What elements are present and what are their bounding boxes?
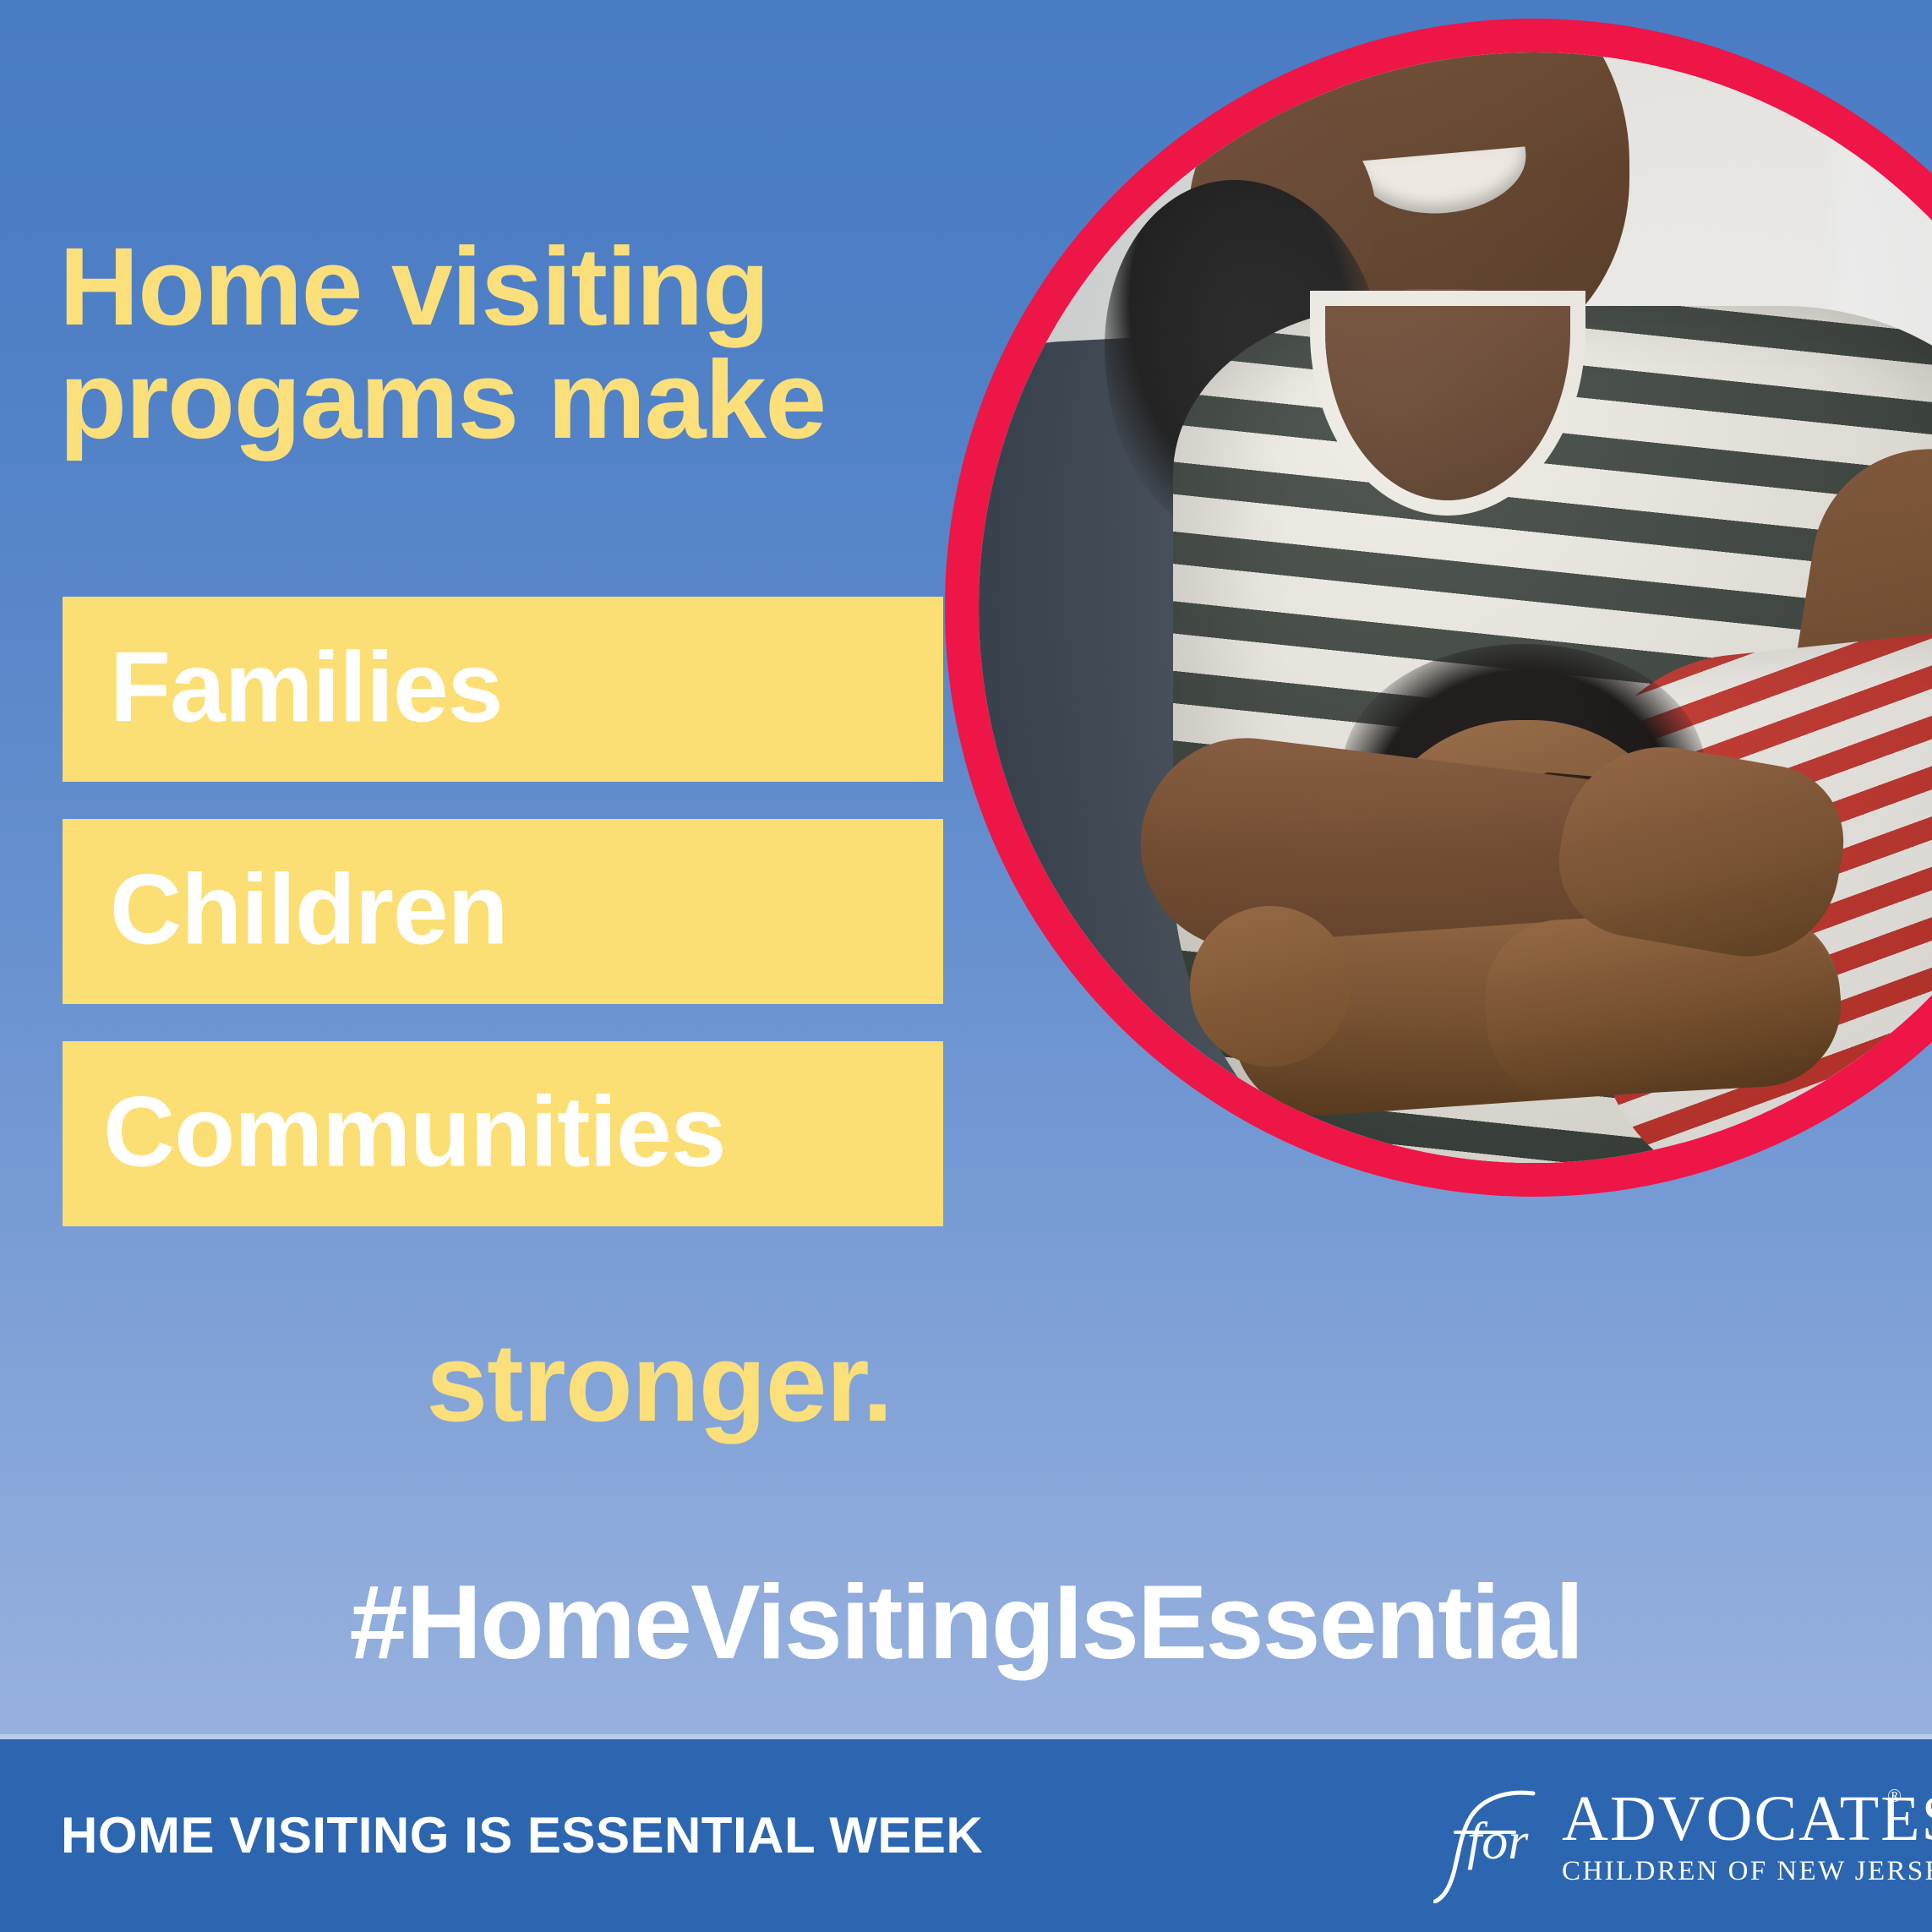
headline-line-1: Home visiting (59, 230, 955, 343)
logo-trademark: ® (1887, 1787, 1902, 1805)
campaign-hashtag: #HomeVisitingIsEssential (0, 1570, 1932, 1675)
poster-canvas: Home visiting progams make Families Chil… (0, 0, 1932, 1932)
logo-name: ADVOCATES (1562, 1787, 1932, 1851)
footer-campaign-title: HOME VISITING IS ESSENTIAL WEEK (61, 1810, 983, 1861)
highlight-bar-list: Families Children Communities (63, 597, 943, 1226)
highlight-bar-communities: Communities (63, 1041, 943, 1226)
baby-fist (1190, 906, 1351, 1067)
logo-subtitle: CHILDREN OF NEW JERSEY (1562, 1858, 1932, 1886)
highlight-bar-label: Communities (103, 1082, 725, 1182)
closing-word: stronger. (0, 1327, 1318, 1438)
highlight-bar-children: Children (63, 819, 943, 1004)
highlight-bar-label: Families (110, 637, 502, 737)
headline: Home visiting progams make (59, 230, 955, 456)
footer-bar: HOME VISITING IS ESSENTIAL WEEK for ADVO… (0, 1739, 1932, 1932)
logo-script-for: for (1467, 1815, 1528, 1868)
headline-line-2: progams make (59, 343, 955, 456)
photo-circle (945, 19, 1932, 1197)
highlight-bar-families: Families (63, 597, 943, 782)
highlight-bar-label: Children (110, 860, 508, 959)
photo-image (979, 52, 1932, 1163)
organization-logo: for ADVOCATES ® CHILDREN OF NEW JERSEY (1396, 1787, 1903, 1903)
